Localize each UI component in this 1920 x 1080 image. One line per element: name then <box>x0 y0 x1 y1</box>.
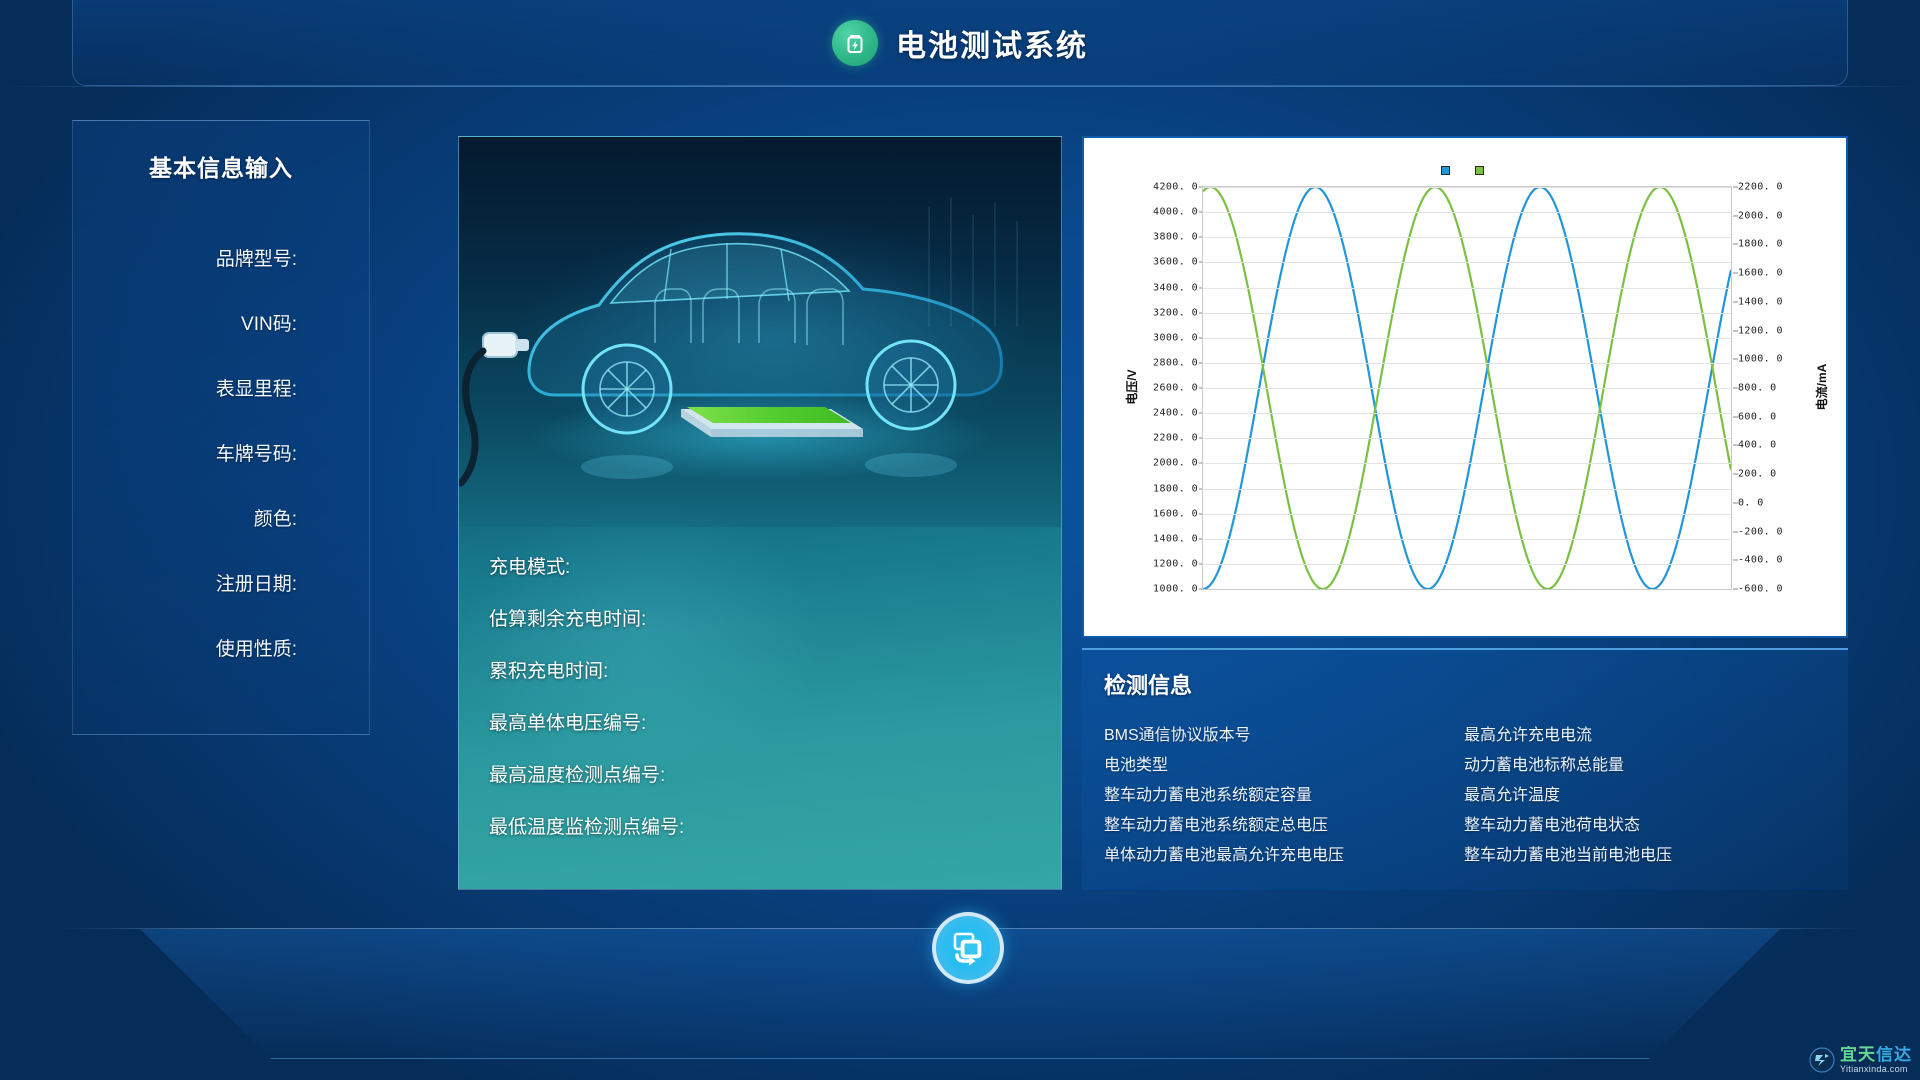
chart-y-right-tick-label: 1000. 0 <box>1738 354 1783 365</box>
field-label: 最高单体电压编号: <box>489 708 646 735</box>
yitianxinda-logo-icon <box>1809 1047 1835 1073</box>
detection-info-title: 检测信息 <box>1104 668 1848 700</box>
basic-field-vin[interactable]: VIN码: <box>73 290 297 355</box>
field-label: VIN码: <box>241 309 297 336</box>
chart-gridline <box>1203 313 1731 314</box>
field-label: 表显里程: <box>216 374 297 401</box>
chart-gridline <box>1203 539 1731 540</box>
field-label: 注册日期: <box>216 569 297 596</box>
charge-field-max-temp-point-id[interactable]: 最高温度检测点编号: <box>489 747 1029 799</box>
chart-y-right-tick-mark <box>1733 474 1738 475</box>
charge-field-mode[interactable]: 充电模式: <box>489 539 1029 591</box>
charge-field-remaining-time[interactable]: 估算剩余充电时间: <box>489 591 1029 643</box>
list-item[interactable]: 整车动力蓄电池系统额定容量 <box>1104 778 1464 808</box>
field-label: 品牌型号: <box>216 244 297 271</box>
chart-y-left-ticks: 1000. 01200. 01400. 01600. 01800. 02000.… <box>1144 186 1198 590</box>
chart-y-left-tick-label: 3200. 0 <box>1153 307 1198 318</box>
chart-y-right-tick-mark <box>1733 560 1738 561</box>
charging-field-list: 充电模式: 估算剩余充电时间: 累积充电时间: 最高单体电压编号: 最高温度检测… <box>489 539 1029 851</box>
chart-gridline <box>1203 237 1731 238</box>
chart-y-right-tick-mark <box>1733 388 1738 389</box>
chart-y-right-tick-mark <box>1733 244 1738 245</box>
basic-info-panel: 基本信息输入 品牌型号: VIN码: 表显里程: 车牌号码: 颜色: 注册日期:… <box>72 120 370 735</box>
app-header: 电池测试系统 <box>0 0 1920 86</box>
chart-y-right-tick-mark <box>1733 330 1738 331</box>
basic-field-color[interactable]: 颜色: <box>73 485 297 550</box>
chart-y-right-tick-label: 1800. 0 <box>1738 239 1783 250</box>
chart-gridline <box>1203 589 1731 590</box>
page-title: 电池测试系统 <box>896 21 1088 65</box>
charge-field-max-cell-voltage-id[interactable]: 最高单体电压编号: <box>489 695 1029 747</box>
basic-field-plate-number[interactable]: 车牌号码: <box>73 420 297 485</box>
chart-y-right-tick-label: -400. 0 <box>1738 555 1783 566</box>
chart-gridline <box>1203 413 1731 414</box>
chart-gridline <box>1203 363 1731 364</box>
chart-y-left-tick-label: 1200. 0 <box>1153 558 1198 569</box>
chart-y-right-tick-mark <box>1733 531 1738 532</box>
basic-field-brand-model[interactable]: 品牌型号: <box>73 225 297 290</box>
refresh-duplicate-icon[interactable] <box>932 912 1004 984</box>
detection-info-columns: BMS通信协议版本号 电池类型 整车动力蓄电池系统额定容量 整车动力蓄电池系统额… <box>1104 718 1848 868</box>
chart-y-right-tick-label: 800. 0 <box>1738 383 1777 394</box>
chart-y-right-tick-label: 600. 0 <box>1738 411 1777 422</box>
chart-y-left-tick-label: 1600. 0 <box>1153 508 1198 519</box>
chart-y-left-tick-label: 3000. 0 <box>1153 332 1198 343</box>
chart-y-left-tick-label: 4000. 0 <box>1153 207 1198 218</box>
electric-vehicle-illustration <box>459 137 1062 527</box>
voltage-current-chart-panel: 电压/V 1000. 01200. 01400. 01600. 01800. 0… <box>1082 136 1848 638</box>
field-label: 累积充电时间: <box>489 656 608 683</box>
chart-y-right-tick-mark <box>1733 416 1738 417</box>
watermark: 宜天信达 Yitianxinda.com <box>1809 1046 1912 1074</box>
basic-field-mileage[interactable]: 表显里程: <box>73 355 297 420</box>
chart-gridline <box>1203 212 1731 213</box>
chart-y-left-tick-label: 2200. 0 <box>1153 433 1198 444</box>
chart-y-right-axis-title: 电流/mA <box>1813 364 1830 411</box>
list-item[interactable]: 整车动力蓄电池荷电状态 <box>1464 808 1824 838</box>
basic-field-usage-type[interactable]: 使用性质: <box>73 615 297 680</box>
chart-y-right-tick-mark <box>1733 301 1738 302</box>
chart-gridline <box>1203 564 1731 565</box>
chart-plot-area[interactable] <box>1202 186 1732 590</box>
chart-gridline <box>1203 388 1731 389</box>
chart-y-left-tick-label: 3600. 0 <box>1153 257 1198 268</box>
list-item[interactable]: 电池类型 <box>1104 748 1464 778</box>
chart-y-right-tick-label: -600. 0 <box>1738 584 1783 595</box>
field-label: 估算剩余充电时间: <box>489 604 646 631</box>
chart-y-right-tick-label: 0. 0 <box>1738 497 1764 508</box>
chart-y-right-tick-label: 2200. 0 <box>1738 182 1783 193</box>
list-item[interactable]: 整车动力蓄电池系统额定总电压 <box>1104 808 1464 838</box>
chart-gridline <box>1203 514 1731 515</box>
chart-y-left-tick-label: 4200. 0 <box>1153 182 1198 193</box>
chart-y-right-tick-mark <box>1733 589 1738 590</box>
chart-y-left-axis-title: 电压/V <box>1123 369 1140 404</box>
list-item[interactable]: 动力蓄电池标称总能量 <box>1464 748 1824 778</box>
chart-y-right-tick-mark <box>1733 273 1738 274</box>
chart-y-right-tick-label: 2000. 0 <box>1738 210 1783 221</box>
chart-y-right-ticks: -600. 0-400. 0-200. 00. 0200. 0400. 0600… <box>1738 186 1798 590</box>
chart-y-left-tick-label: 1800. 0 <box>1153 483 1198 494</box>
header-divider <box>0 86 1920 87</box>
chart-y-right-tick-label: 200. 0 <box>1738 469 1777 480</box>
chart-y-left-tick-label: 2600. 0 <box>1153 383 1198 394</box>
watermark-en-text: Yitianxinda.com <box>1840 1065 1912 1074</box>
chart-y-left-tick-label: 1400. 0 <box>1153 533 1198 544</box>
watermark-cn-text: 宜天信达 <box>1840 1046 1912 1063</box>
legend-item-voltage[interactable] <box>1441 166 1455 175</box>
chart-y-right-tick-label: 1200. 0 <box>1738 325 1783 336</box>
chart-y-right-tick-label: -200. 0 <box>1738 526 1783 537</box>
legend-item-current[interactable] <box>1475 166 1489 175</box>
charge-field-min-temp-point-id[interactable]: 最低温度监检测点编号: <box>489 799 1029 851</box>
list-item[interactable]: 整车动力蓄电池当前电池电压 <box>1464 838 1824 868</box>
detection-info-left-column: BMS通信协议版本号 电池类型 整车动力蓄电池系统额定容量 整车动力蓄电池系统额… <box>1104 718 1464 868</box>
basic-info-field-list: 品牌型号: VIN码: 表显里程: 车牌号码: 颜色: 注册日期: 使用性质: <box>73 225 369 680</box>
chart-y-left-tick-label: 2400. 0 <box>1153 408 1198 419</box>
field-label: 颜色: <box>254 504 297 531</box>
charge-field-cumulative-time[interactable]: 累积充电时间: <box>489 643 1029 695</box>
detection-info-right-column: 最高允许充电电流 动力蓄电池标称总能量 最高允许温度 整车动力蓄电池荷电状态 整… <box>1464 718 1824 868</box>
chart-y-right-tick-mark <box>1733 445 1738 446</box>
list-item[interactable]: 最高允许充电电流 <box>1464 718 1824 748</box>
chart-gridline <box>1203 262 1731 263</box>
chart-y-right-tick-mark <box>1733 359 1738 360</box>
field-label: 充电模式: <box>489 552 570 579</box>
chart-gridline <box>1203 438 1731 439</box>
chart-y-right-tick-label: 1400. 0 <box>1738 296 1783 307</box>
chart-y-right-tick-label: 1600. 0 <box>1738 268 1783 279</box>
field-label: 车牌号码: <box>216 439 297 466</box>
battery-icon <box>832 20 878 66</box>
chart-y-right-tick-label: 400. 0 <box>1738 440 1777 451</box>
list-item[interactable]: BMS通信协议版本号 <box>1104 718 1464 748</box>
chart-y-left-tick-label: 3800. 0 <box>1153 232 1198 243</box>
chart-gridline <box>1203 463 1731 464</box>
chart-y-left-tick-label: 2000. 0 <box>1153 458 1198 469</box>
legend-swatch-voltage <box>1441 166 1450 175</box>
chart-y-left-tick-label: 3400. 0 <box>1153 282 1198 293</box>
field-label: 最低温度监检测点编号: <box>489 812 684 839</box>
list-item[interactable]: 单体动力蓄电池最高允许充电电压 <box>1104 838 1464 868</box>
charging-status-panel: 充电模式: 估算剩余充电时间: 累积充电时间: 最高单体电压编号: 最高温度检测… <box>458 136 1062 890</box>
basic-info-title: 基本信息输入 <box>73 149 369 183</box>
detection-info-panel: 检测信息 BMS通信协议版本号 电池类型 整车动力蓄电池系统额定容量 整车动力蓄… <box>1082 648 1848 890</box>
chart-legend <box>1084 166 1846 175</box>
chart-y-right-tick-mark <box>1733 215 1738 216</box>
basic-field-registration-date[interactable]: 注册日期: <box>73 550 297 615</box>
legend-swatch-current <box>1475 166 1484 175</box>
field-label: 使用性质: <box>216 634 297 661</box>
chart-gridline <box>1203 187 1731 188</box>
chart-y-left-tick-label: 1000. 0 <box>1153 584 1198 595</box>
chart-y-right-tick-mark <box>1733 187 1738 188</box>
chart-gridline <box>1203 489 1731 490</box>
list-item[interactable]: 最高允许温度 <box>1464 778 1824 808</box>
chart-plot-wrapper <box>1202 186 1732 590</box>
chart-gridline <box>1203 338 1731 339</box>
chart-y-left-tick-label: 2800. 0 <box>1153 357 1198 368</box>
chart-y-right-tick-mark <box>1733 502 1738 503</box>
field-label: 最高温度检测点编号: <box>489 760 665 787</box>
chart-gridline <box>1203 288 1731 289</box>
